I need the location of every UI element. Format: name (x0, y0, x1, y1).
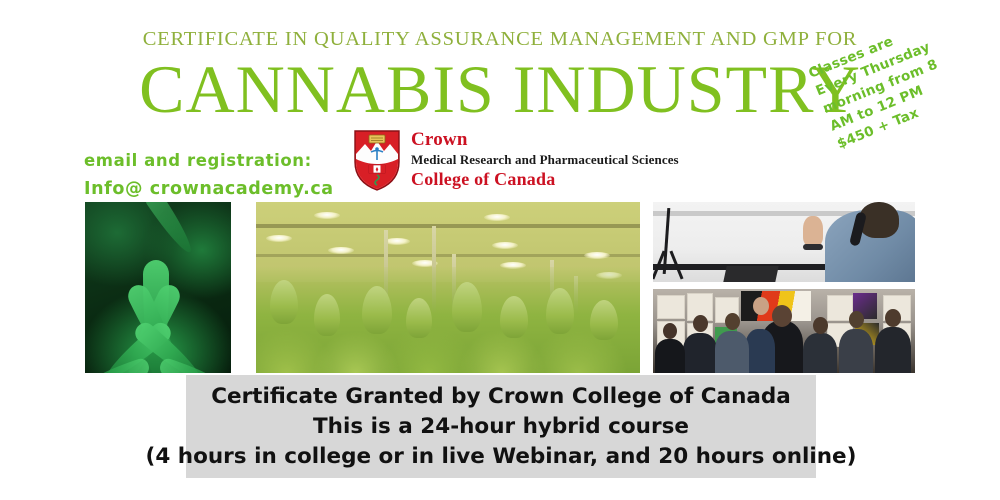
audience-member (875, 327, 911, 373)
instructor-head (753, 297, 769, 315)
grow-lamp (314, 212, 340, 219)
grow-room-photo (256, 202, 640, 373)
audience-head (885, 309, 901, 327)
wristwatch (803, 244, 823, 250)
grow-lamp (492, 242, 518, 249)
logo-institution: College of Canada (411, 169, 679, 190)
laptop (723, 266, 778, 282)
wall-frame (657, 295, 685, 319)
cannabis-plant (500, 296, 528, 338)
cannabis-leaf-photo (85, 202, 231, 373)
audience-head (663, 323, 677, 339)
logo-department: Medical Research and Pharmaceutical Scie… (411, 150, 679, 169)
grow-lamp (584, 252, 610, 259)
grow-lamp (266, 235, 292, 242)
grow-lamp (328, 247, 354, 254)
standing-instructor (745, 329, 775, 373)
audience-member (839, 329, 873, 373)
audience-member (655, 339, 685, 373)
audience-member (715, 331, 749, 373)
ceiling-beam (256, 254, 640, 257)
cannabis-plant (406, 298, 432, 338)
audience-head (849, 311, 864, 328)
audience-head (772, 305, 792, 327)
audience-member (683, 333, 717, 373)
grow-lamp (484, 214, 510, 221)
audience-head (693, 315, 708, 332)
contact-label: email and registration: (84, 146, 334, 175)
crown-college-logo: Crown Medical Research and Pharmaceutica… (352, 128, 679, 192)
cannabis-plant (546, 288, 574, 334)
speaker-photo (653, 202, 915, 282)
audience-member (803, 333, 837, 373)
red-shield-crest-icon (352, 128, 402, 192)
schedule-note: Classes are Every Thursday morning from … (806, 0, 1000, 154)
ceiling-beam (256, 224, 640, 228)
contact-block: email and registration: Info@ crownacade… (84, 146, 334, 204)
audience-head (725, 313, 740, 330)
classroom-photo (653, 289, 915, 373)
contact-email[interactable]: Info@ crownacademy.ca (84, 175, 334, 204)
audience-head (813, 317, 828, 334)
cannabis-plant (270, 280, 298, 324)
info-line-2: This is a 24-hour hybrid course (313, 412, 689, 442)
course-info-panel: Certificate Granted by Crown College of … (186, 375, 816, 478)
cannabis-plant (590, 300, 618, 340)
raised-hand (803, 216, 823, 246)
logo-name: Crown (411, 130, 679, 150)
poster-canvas: CERTIFICATE IN QUALITY ASSURANCE MANAGEM… (0, 0, 1000, 500)
info-line-3: (4 hours in college or in live Webinar, … (146, 442, 857, 472)
info-line-1: Certificate Granted by Crown College of … (211, 382, 791, 412)
cannabis-plant (314, 294, 340, 336)
